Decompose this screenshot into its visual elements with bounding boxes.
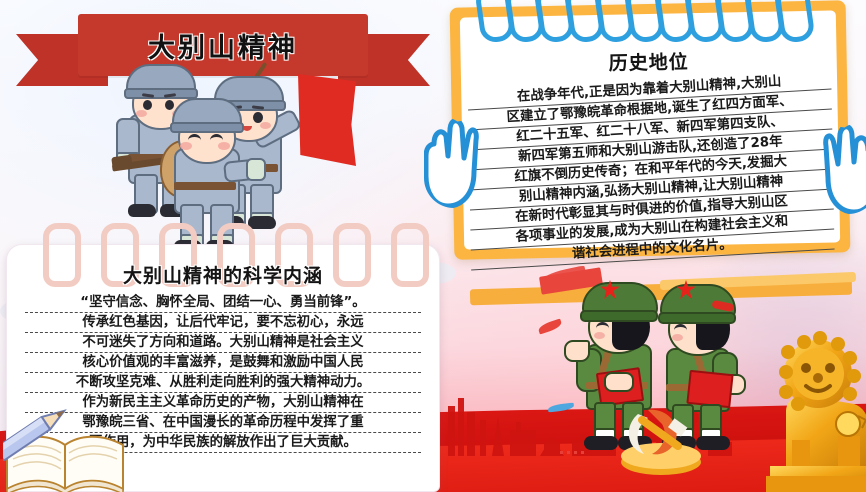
right-content-panel[interactable]: 历史地位 在战争年代,正是因为靠着大别山精神,大别山 区建立了鄂豫皖革命根据地,… bbox=[452, 4, 848, 256]
left-panel-heading: 大别山精神的科学内涵 bbox=[7, 261, 439, 288]
hammer-and-sickle-emblem bbox=[618, 404, 704, 476]
spiral-binding bbox=[478, 0, 808, 34]
body-line: 不断攻坚克难、从胜利走向胜利的强大精神动力。 bbox=[25, 373, 421, 393]
right-panel-body: 在战争年代,正是因为靠着大别山精神,大别山 区建立了鄂豫皖革命根据地,诞生了红四… bbox=[467, 77, 834, 264]
hand-skin bbox=[604, 372, 634, 392]
body-line: “坚守信念、胸怀全局、团结一心、勇当前锋”。 bbox=[25, 293, 421, 313]
golden-lion-statue bbox=[762, 316, 866, 492]
cadets-illustration bbox=[560, 266, 770, 466]
right-panel-page: 历史地位 在战争年代,正是因为靠着大别山精神,大别山 区建立了鄂豫皖革命根据地,… bbox=[460, 10, 840, 249]
left-content-panel[interactable]: 大别山精神的科学内涵 “坚守信念、胸怀全局、团结一心、勇当前锋”。 传承红色基因… bbox=[6, 244, 440, 492]
body-line: 传承红色基因，让后代牢记，要不忘初心，永远 bbox=[25, 313, 421, 333]
red-book bbox=[686, 370, 733, 408]
body-line: 核心价值观的丰富滋养，是鼓舞和激励中国人民 bbox=[25, 353, 421, 373]
hand-right-icon bbox=[822, 122, 866, 214]
hand-left-icon bbox=[424, 116, 480, 208]
open-book-with-pencil-icon bbox=[3, 393, 131, 492]
body-line: 不可迷失了方向和道路。大别山精神是社会主义 bbox=[25, 333, 421, 353]
red-flag bbox=[298, 74, 356, 166]
hand-skin bbox=[564, 340, 590, 362]
poster-canvas: 大别山精神 bbox=[0, 0, 866, 492]
